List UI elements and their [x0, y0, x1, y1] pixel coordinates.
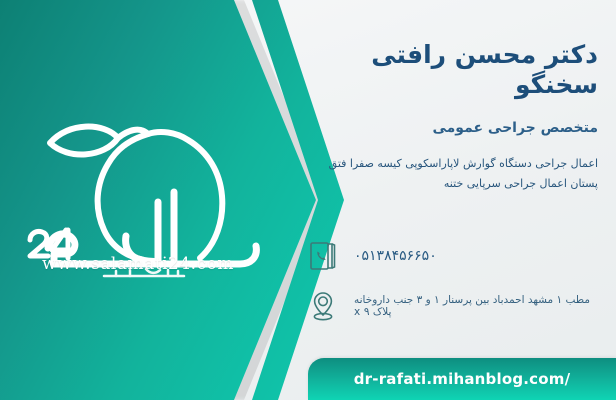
services-line-2: پستان اعمال جراحی سرپایی ختنه — [308, 174, 598, 194]
website-bar[interactable]: dr-rafati.mihanblog.com/ — [308, 358, 616, 400]
business-card: www.salamati24.com دکتر محسن رافتی سخنگو… — [0, 0, 616, 400]
phone-number: ۰۵۱۳۸۴۵۶۶۵۰ — [354, 248, 598, 264]
card-content: دکتر محسن رافتی سخنگو متخصص جراحی عمومی … — [300, 0, 598, 400]
phone-row[interactable]: ۰۵۱۳۸۴۵۶۶۵۰ — [300, 238, 598, 274]
location-pin-icon — [306, 288, 340, 324]
phonebook-icon — [306, 238, 340, 274]
salamati24-logo: www.salamati24.com — [8, 108, 268, 280]
contact-block: ۰۵۱۳۸۴۵۶۶۵۰ مطب ۱ مشهد احمدباد بین پرسنا… — [300, 238, 598, 338]
doctor-specialty: متخصص جراحی عمومی — [300, 120, 598, 136]
address-row[interactable]: مطب ۱ مشهد احمدباد بین پرسنار ۱ و ۳ جنب … — [300, 288, 598, 324]
services-line-1: اعمال جراحی دستگاه گوارش لاپاراسکوپی کیس… — [308, 154, 598, 174]
doctor-name: دکتر محسن رافتی سخنگو — [300, 40, 598, 100]
logo-leaf-icon — [50, 127, 118, 155]
address-text: مطب ۱ مشهد احمدباد بین پرسنار ۱ و ۳ جنب … — [354, 294, 598, 318]
website-url: dr-rafati.mihanblog.com/ — [354, 370, 571, 388]
logo-website: www.salamati24.com — [8, 254, 268, 274]
services-description: اعمال جراحی دستگاه گوارش لاپاراسکوپی کیس… — [300, 154, 598, 195]
